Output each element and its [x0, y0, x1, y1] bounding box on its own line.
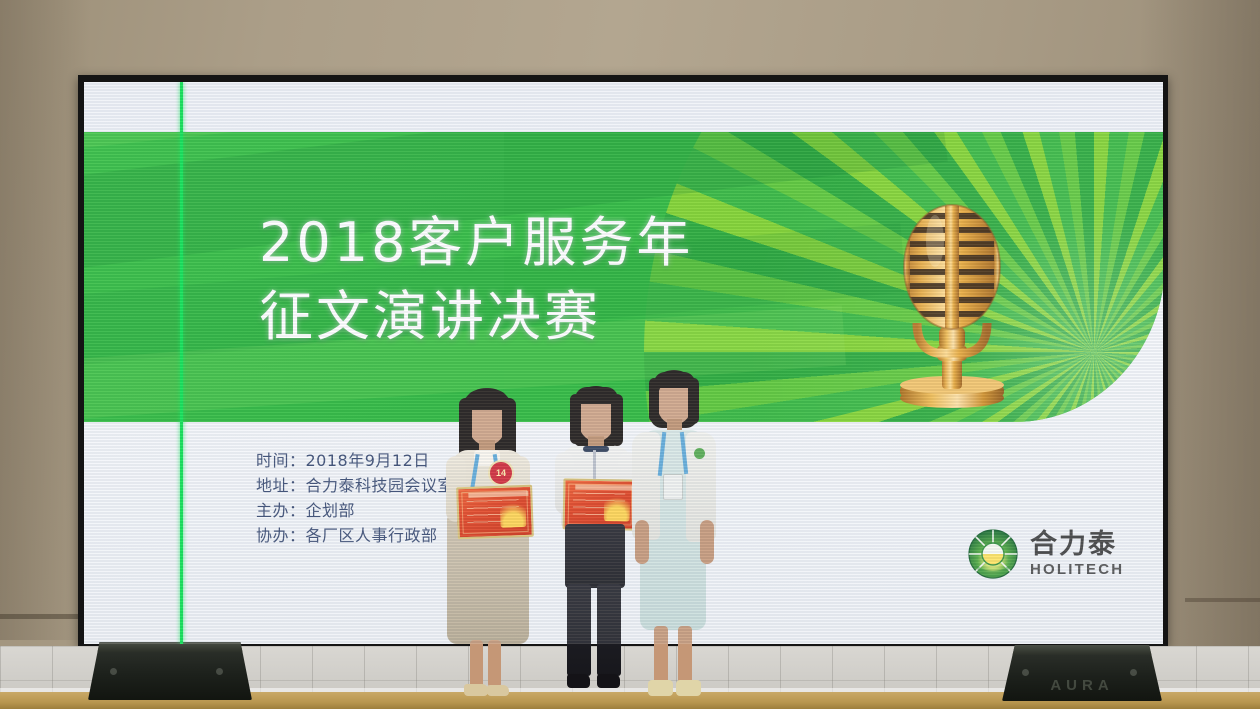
- monitor-left-top: [88, 642, 252, 652]
- person-left-shoe-r: [487, 685, 509, 696]
- monitor-right-knob-2: [1130, 669, 1137, 676]
- monitor-left-knob-2: [216, 668, 223, 675]
- person-right-arm-r: [700, 520, 714, 564]
- slide-title: 2018客户服务年 征文演讲决赛: [259, 206, 693, 354]
- person-right-arm-l: [635, 520, 649, 564]
- slide-info-organizer: 主办：企划部: [256, 498, 454, 523]
- slide-info-block: 时间：2018年9月12日 地址：合力泰科技园会议室 主办：企划部 协办：各厂区…: [256, 448, 454, 548]
- slide-info-coorganizer: 协办：各厂区人事行政部: [256, 523, 454, 548]
- slide-title-line-2: 征文演讲决赛: [259, 280, 693, 354]
- person-right-shoe-r: [676, 680, 701, 696]
- person-center-hair-side-l: [570, 394, 581, 444]
- person-left-shoe-l: [464, 684, 488, 696]
- person-center-shoe-l: [567, 674, 590, 688]
- person-left-number-badge: 14: [488, 460, 514, 486]
- person-left: 14: [432, 388, 542, 700]
- person-left-certificate: [456, 485, 534, 540]
- stage-monitor-left: [88, 642, 252, 700]
- retro-microphone-icon: [877, 197, 1027, 412]
- logo-name-en: HOLITECH: [1030, 562, 1124, 577]
- person-right-hair-side-r: [688, 378, 699, 424]
- monitor-right-knob-1: [1022, 669, 1029, 676]
- person-right-leg-r: [678, 626, 692, 686]
- person-right-hair-side-l: [649, 378, 659, 422]
- slide-info-time: 时间：2018年9月12日: [256, 448, 454, 473]
- person-right: [616, 370, 734, 700]
- person-right-jacket-emblem: [694, 448, 705, 459]
- logo-wordmark: 合力泰 HOLITECH: [1030, 531, 1124, 577]
- person-center-pant-leg-l: [567, 584, 591, 676]
- monitor-right-top: [1002, 645, 1162, 655]
- vertical-accent-line: [180, 82, 183, 644]
- slide-info-address: 地址：合力泰科技园会议室: [256, 473, 454, 498]
- person-left-hair-side-l: [459, 398, 472, 458]
- monitor-left-knob-1: [110, 668, 117, 675]
- person-right-id-card: [663, 474, 683, 500]
- logo-name-cn: 合力泰: [1030, 531, 1124, 558]
- person-left-leg-r: [488, 640, 501, 688]
- slide-title-line-1: 2018客户服务年: [259, 206, 693, 280]
- person-right-leg-l: [654, 626, 668, 686]
- company-logo: 合力泰 HOLITECH: [968, 529, 1124, 579]
- monitor-brand-label: AURA: [1002, 677, 1162, 694]
- person-center-collar-trim: [583, 446, 609, 452]
- wall-shadow-left: [0, 0, 90, 640]
- stage-monitor-right: AURA: [1002, 645, 1162, 701]
- stage-photo-scene: 2018客户服务年 征文演讲决赛 时间：2018年9月12日 地址：合力泰科技园…: [0, 0, 1260, 709]
- holitech-sun-ring-icon: [968, 529, 1018, 579]
- person-right-shoe-l: [648, 680, 673, 696]
- wall-seam-right: [1185, 598, 1260, 602]
- person-left-leg-l: [470, 640, 483, 688]
- certificate-ornament: [499, 493, 526, 528]
